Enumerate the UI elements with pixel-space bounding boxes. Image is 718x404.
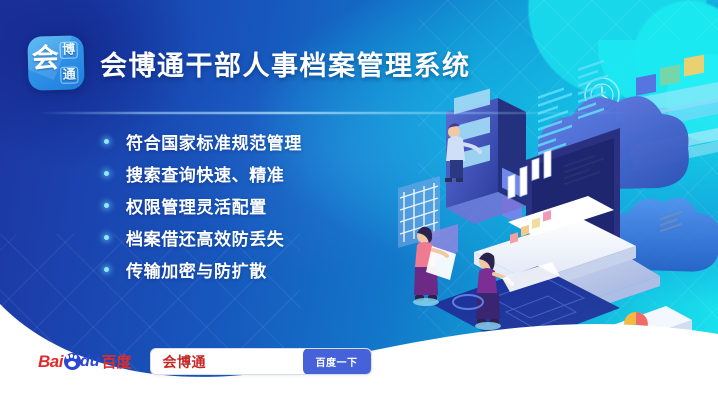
search-button[interactable]: 百度一下 [303,348,371,375]
search-box[interactable]: 会博通 百度一下 [150,348,372,375]
logo-stack-char-1: 通 [61,66,78,83]
search-input[interactable]: 会博通 [151,352,303,372]
bullet-dot-icon [104,203,109,208]
feature-label: 权限管理灵活配置 [126,193,267,218]
baidu-paw-icon [64,353,81,370]
logo-stack-char-0: 博 [60,41,77,58]
bullet-dot-icon [104,235,109,240]
baidu-search-row: Bai du 百度 会博通 百度一下 [38,348,372,375]
feature-label: 档案借还高效防丢失 [126,225,284,250]
logo-main-char: 会 [32,45,59,73]
feature-list: 符合国家标准规范管理 搜索查询快速、精准 权限管理灵活配置 档案借还高效防丢失 … [104,128,302,288]
feature-item: 传输加密与防扩散 [104,256,302,283]
header: 会 博 通 会博通干部人事档案管理系统 [28,36,471,90]
baidu-logo-cn: 百度 [102,351,132,372]
bullet-dot-icon [104,267,109,272]
title-divider [36,112,636,114]
bullet-dot-icon [104,139,109,144]
feature-label: 搜索查询快速、精准 [126,161,284,186]
feature-item: 权限管理灵活配置 [104,192,302,219]
baidu-logo-bai: Bai [38,352,63,372]
baidu-logo-du: du [80,353,100,371]
page-title: 会博通干部人事档案管理系统 [100,44,471,83]
feature-item: 符合国家标准规范管理 [104,128,302,155]
feature-label: 符合国家标准规范管理 [126,129,302,154]
feature-item: 搜索查询快速、精准 [104,160,302,187]
feature-item: 档案借还高效防丢失 [104,224,302,251]
logo-stack-chars: 博 通 [58,41,79,84]
baidu-logo[interactable]: Bai du 百度 [38,352,132,372]
bullet-dot-icon [104,171,109,176]
feature-label: 传输加密与防扩散 [126,257,267,282]
huibotong-logo-icon: 会 博 通 [27,35,84,90]
banner: 会 博 通 会博通干部人事档案管理系统 符合国家标准规范管理 搜索查询快速、精准… [0,0,718,404]
